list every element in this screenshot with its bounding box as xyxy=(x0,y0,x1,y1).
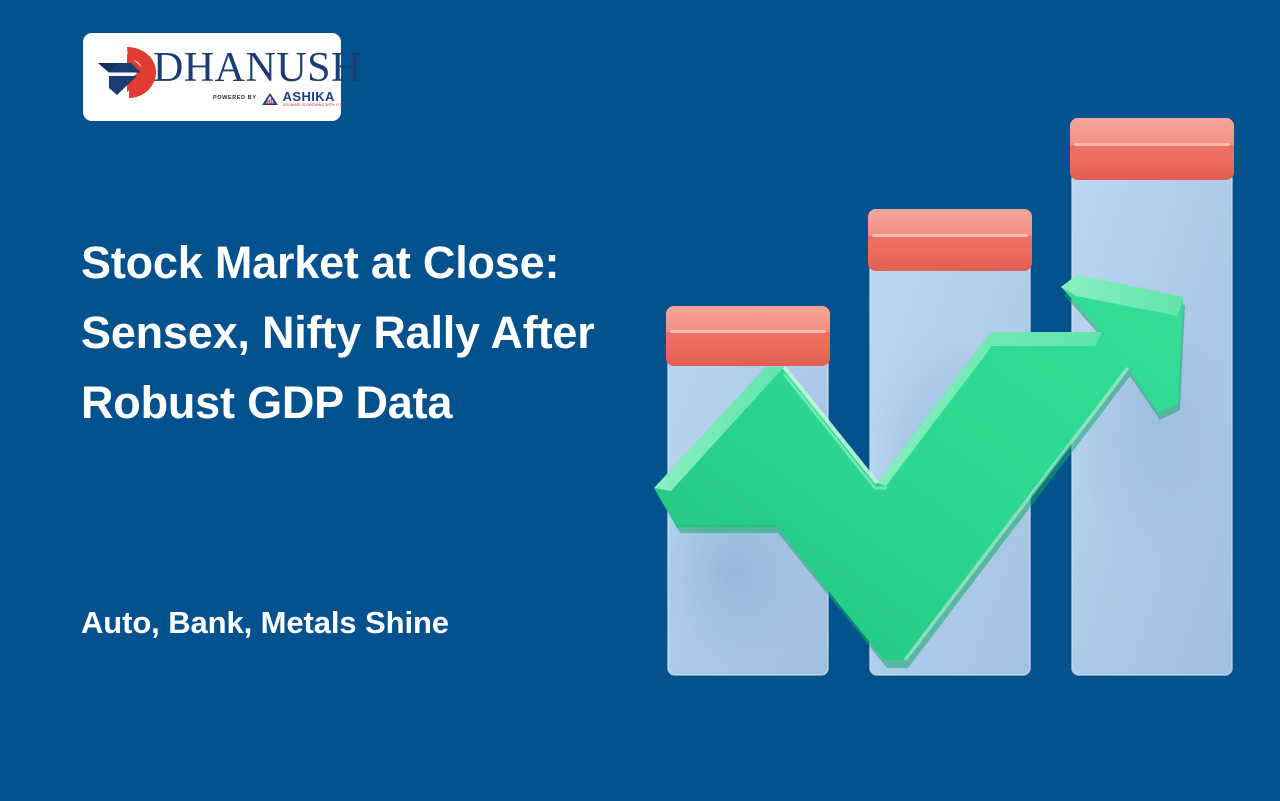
ashika-brand-name: ASHIKA xyxy=(283,90,344,103)
ashika-tagline: GROWING IS GROWING WITH YOU xyxy=(283,104,344,108)
headline-line-1: Stock Market at Close: xyxy=(81,228,661,298)
headline-line-2: Sensex, Nifty Rally After xyxy=(81,298,661,368)
brand-logo-card[interactable]: DHANUSH POWERED BY ASHIKA GROWING IS GRO… xyxy=(83,33,341,121)
subtitle: Auto, Bank, Metals Shine xyxy=(81,601,449,645)
ashika-mountain-icon xyxy=(261,92,279,106)
headline-line-3: Robust GDP Data xyxy=(81,368,661,438)
ashika-text-block: ASHIKA GROWING IS GROWING WITH YOU xyxy=(283,90,344,108)
powered-by-row: POWERED BY ASHIKA GROWING IS GROWING WIT… xyxy=(213,90,343,108)
brand-logo-inner: DHANUSH POWERED BY ASHIKA GROWING IS GRO… xyxy=(83,33,341,121)
powered-by-label: POWERED BY xyxy=(213,96,257,102)
dhanush-arrow-mark-icon xyxy=(97,46,159,100)
promo-banner: DHANUSH POWERED BY ASHIKA GROWING IS GRO… xyxy=(0,0,1280,801)
growth-chart-illustration xyxy=(640,90,1240,690)
page-title: Stock Market at Close: Sensex, Nifty Ral… xyxy=(81,228,661,438)
brand-wordmark: DHANUSH xyxy=(153,47,362,89)
bar-chart-graphic xyxy=(640,90,1240,690)
